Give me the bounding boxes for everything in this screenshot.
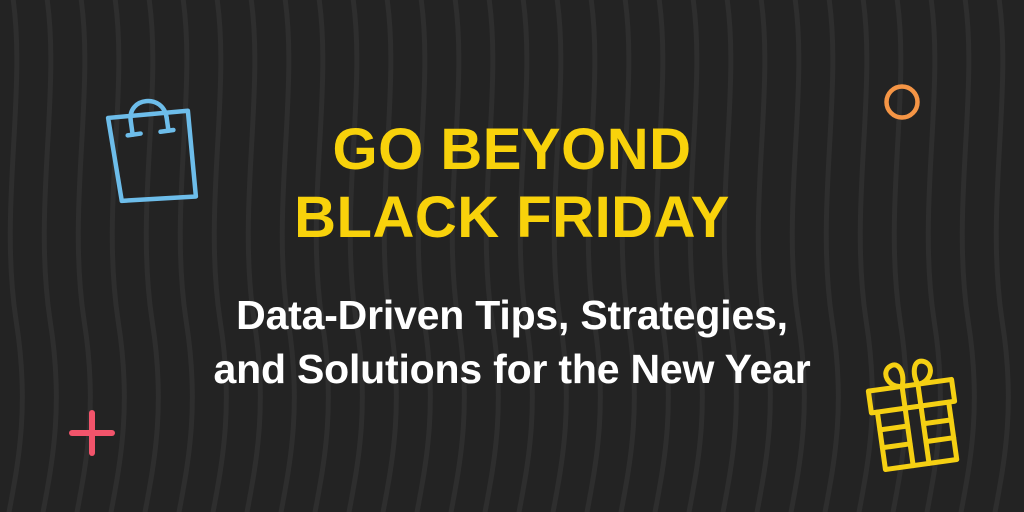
banner-text-block: GO BEYOND BLACK FRIDAY Data-Driven Tips,… — [0, 0, 1024, 512]
banner-headline: GO BEYOND BLACK FRIDAY — [294, 116, 730, 252]
banner-subtitle: Data-Driven Tips, Strategies, and Soluti… — [214, 288, 811, 396]
subtitle-line-2: and Solutions for the New Year — [214, 342, 811, 396]
subtitle-line-1: Data-Driven Tips, Strategies, — [214, 288, 811, 342]
promo-banner: GO BEYOND BLACK FRIDAY Data-Driven Tips,… — [0, 0, 1024, 512]
headline-line-2: BLACK FRIDAY — [294, 184, 730, 252]
headline-line-1: GO BEYOND — [294, 116, 730, 184]
